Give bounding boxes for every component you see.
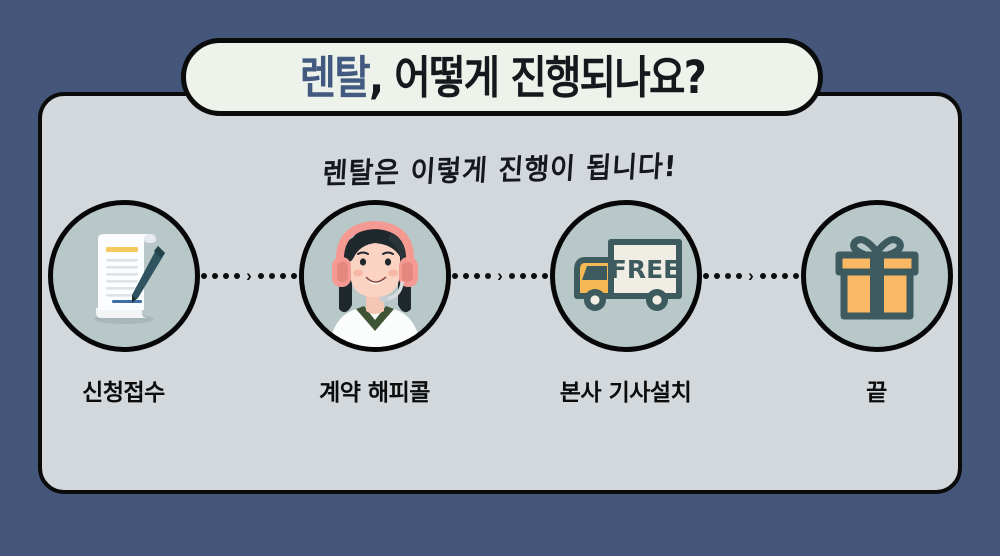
connector-dot — [520, 273, 526, 279]
page-title-highlight: 렌탈 — [299, 51, 368, 104]
connector-dot — [234, 273, 240, 279]
connector-dot — [736, 273, 742, 279]
step-3-label: 본사 기사설치 — [560, 373, 691, 407]
connector-dot — [771, 273, 777, 279]
connector-1-2: › — [209, 200, 289, 352]
connector-dot — [269, 273, 275, 279]
connector-dot — [531, 273, 537, 279]
connector-dot — [223, 273, 229, 279]
connector-dot — [714, 273, 720, 279]
page-title-rest: , 어떻게 진행되나요? — [369, 51, 705, 104]
step-item-4: 끝 — [791, 200, 962, 407]
step-1-circle — [48, 200, 200, 352]
step-item-1: 신청접수 — [38, 200, 209, 407]
step-3-circle: FREE — [550, 200, 702, 352]
connector-dot — [463, 273, 469, 279]
connector-3-4: › — [711, 200, 791, 352]
chevron-right-icon: › — [748, 267, 754, 284]
connector-dot — [452, 273, 458, 279]
step-item-2: 계약 해피콜 — [289, 200, 460, 407]
truck-free-text: FREE — [609, 255, 679, 284]
connector-dot — [782, 273, 788, 279]
chevron-right-icon: › — [246, 267, 252, 284]
connector-dot — [474, 273, 480, 279]
connector-dot — [703, 273, 709, 279]
infographic-canvas: 렌탈, 어떻게 진행되나요? 렌탈은 이렇게 진행이 됩니다! — [0, 0, 1000, 556]
connector-dot — [280, 273, 286, 279]
document-pen-icon — [72, 224, 176, 328]
connector-dot — [258, 273, 264, 279]
connector-dot — [485, 273, 491, 279]
step-4-label: 끝 — [866, 373, 887, 407]
page-title: 렌탈, 어떻게 진행되나요? — [299, 55, 704, 100]
title-pill: 렌탈, 어떻게 진행되나요? — [181, 38, 823, 116]
step-4-circle — [801, 200, 953, 352]
delivery-truck-icon: FREE — [567, 230, 685, 322]
connector-dot — [509, 273, 515, 279]
connector-dot — [760, 273, 766, 279]
gift-box-icon — [827, 226, 927, 326]
headset-agent-icon — [304, 205, 446, 347]
connector-dot — [212, 273, 218, 279]
step-flow: 신청접수 › — [38, 200, 962, 415]
step-2-circle — [299, 200, 451, 352]
step-1-label: 신청접수 — [82, 373, 165, 407]
step-2-label: 계약 해피콜 — [319, 373, 430, 407]
chevron-right-icon: › — [497, 267, 503, 284]
step-item-3: FREE 본사 기사설치 — [540, 200, 711, 407]
connector-2-3: › — [460, 200, 540, 352]
connector-dot — [725, 273, 731, 279]
connector-dot — [201, 273, 207, 279]
